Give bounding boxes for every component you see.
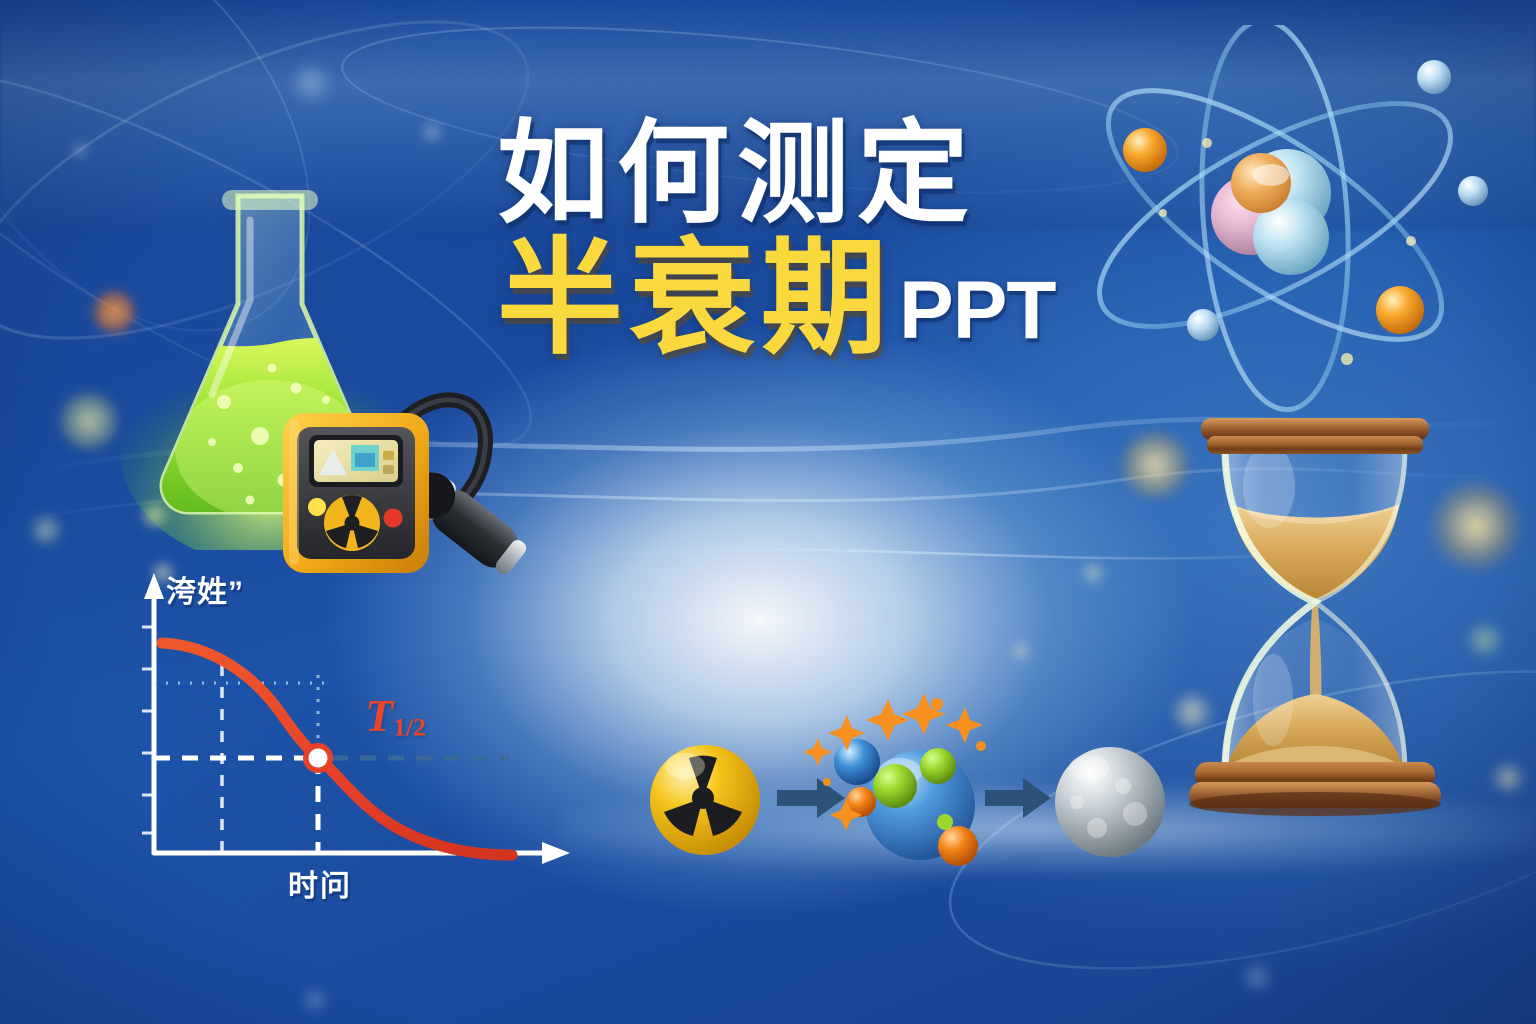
- title-suffix-ppt: PPT: [899, 270, 1055, 352]
- chart-axes: [154, 589, 550, 853]
- title-line-2: 半衰期: [497, 236, 893, 362]
- poster-title: 如何测定 半衰期 PPT: [497, 118, 1217, 362]
- y-axis-label: 洿姓”: [166, 567, 244, 611]
- decay-curve: [162, 643, 512, 855]
- half-life-decay-chart: 洿姓” 时问 T1/2: [110, 565, 610, 925]
- title-line-1: 如何测定: [497, 118, 1217, 230]
- half-life-subscript: 1/2: [393, 713, 426, 742]
- hourglass-icon: [1165, 400, 1465, 830]
- y-axis-arrowhead: [144, 573, 164, 599]
- half-life-marker: [309, 749, 328, 768]
- half-life-symbol: T: [365, 690, 393, 741]
- poster-canvas: 如何测定 半衰期 PPT: [0, 0, 1536, 1024]
- x-axis-label: 时问: [288, 861, 352, 905]
- erlenmeyer-flask-icon: [120, 150, 420, 550]
- x-axis-arrowhead: [542, 842, 570, 864]
- geiger-counter-icon: [255, 375, 530, 585]
- chart-svg: [110, 565, 610, 925]
- ground-highlight: [560, 784, 1536, 874]
- half-life-annotation: T1/2: [365, 689, 426, 743]
